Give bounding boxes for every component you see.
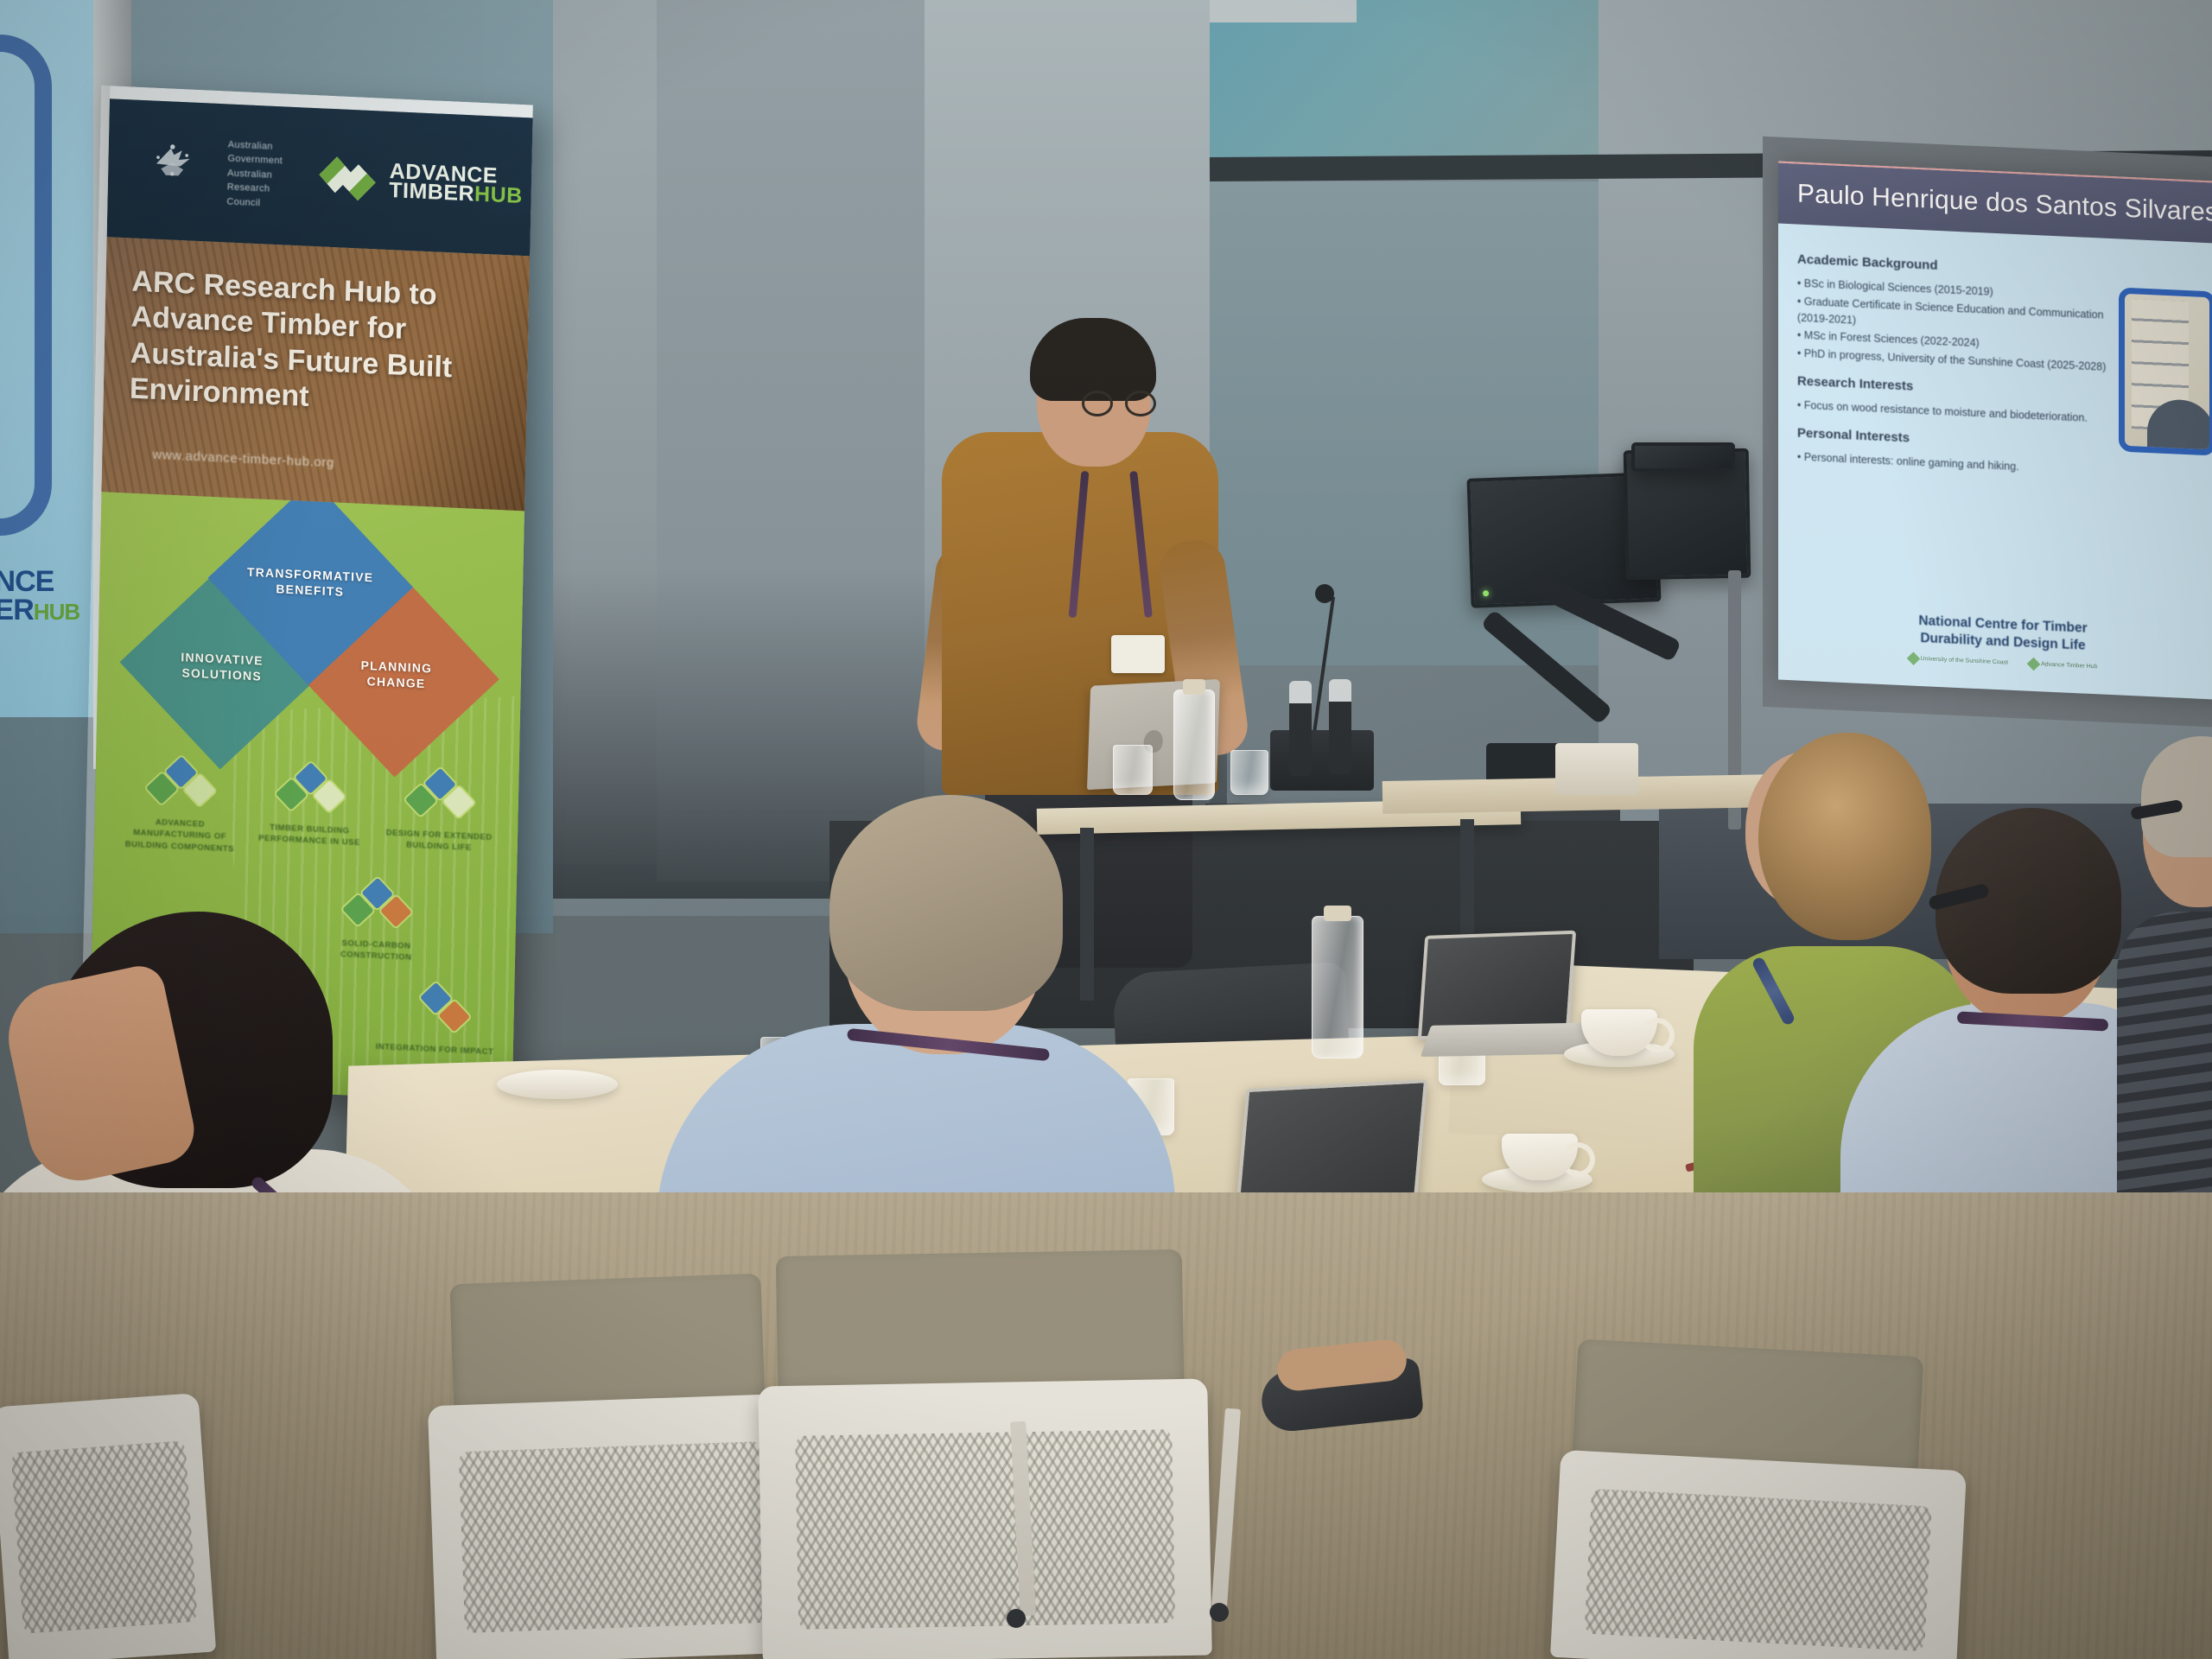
presenter-name-badge bbox=[1111, 635, 1165, 673]
screen-outline-shape bbox=[0, 35, 52, 536]
glass-water-bottle[interactable] bbox=[1173, 690, 1215, 800]
timber-hub-chevron-icon bbox=[313, 143, 382, 214]
program-label: INTEGRATION FOR IMPACT bbox=[370, 1041, 499, 1058]
bottle-cap[interactable] bbox=[1183, 679, 1205, 695]
conference-room-photo: ANCE BERHUB Australian Government Au bbox=[0, 0, 2212, 1659]
slide-bullet: • Personal interests: online gaming and … bbox=[1797, 448, 2115, 479]
chair-caster bbox=[1007, 1609, 1026, 1628]
water-bottle-table[interactable] bbox=[1312, 916, 1363, 1058]
university-logo-icon: University of the Sunshine Coast bbox=[1909, 653, 2009, 667]
program-label: SOLID-CARBON CONSTRUCTION bbox=[311, 937, 441, 965]
program-label: ADVANCED MANUFACTURING OF BUILDING COMPO… bbox=[115, 815, 245, 855]
ceiling-strip bbox=[1210, 0, 1357, 22]
side-plate bbox=[497, 1070, 618, 1099]
program-diamond-icon bbox=[276, 764, 345, 821]
microphone-charging-dock bbox=[1270, 730, 1374, 791]
monitor-power-led-icon bbox=[1483, 590, 1489, 596]
water-bottle-cap[interactable] bbox=[1324, 906, 1351, 921]
microphone-capsule-icon bbox=[1315, 584, 1334, 603]
chair-right[interactable] bbox=[1550, 1450, 1967, 1659]
slide-body: Academic Background • BSc in Biological … bbox=[1797, 240, 2115, 481]
presenter-table-leg bbox=[1080, 828, 1094, 1001]
program-diamond-icon bbox=[343, 879, 411, 936]
advance-timber-hub-wordmark: ADVANCE TIMBERHUB bbox=[389, 161, 523, 206]
banner-headline: ARC Research Hub to Advance Timber for A… bbox=[129, 264, 510, 425]
slide-bullet: • Focus on wood resistance to moisture a… bbox=[1797, 397, 2115, 427]
presenter-water-glass-2[interactable] bbox=[1230, 750, 1268, 795]
presenter-water-glass[interactable] bbox=[1113, 745, 1153, 795]
hub-logo-icon: Advance Timber Hub bbox=[2029, 659, 2097, 672]
chair-caster bbox=[1210, 1603, 1229, 1622]
program-label: TIMBER BUILDING PERFORMANCE IN USE bbox=[245, 821, 374, 849]
program-label: DESIGN FOR EXTENDED BUILDING LIFE bbox=[374, 827, 504, 855]
monitor-rear-panel bbox=[1631, 442, 1735, 472]
program-diamond-icon bbox=[405, 769, 474, 826]
slide-content: Paulo Henrique dos Santos Silvares Acade… bbox=[1778, 162, 2212, 701]
main-projection-screen: Paulo Henrique dos Santos Silvares Acade… bbox=[1763, 137, 2212, 728]
attendee-hair bbox=[829, 795, 1063, 1011]
program-diamond-icon bbox=[401, 983, 469, 1040]
attendee-hair bbox=[1758, 733, 1931, 940]
advance-timber-hub-logo: ADVANCE TIMBERHUB bbox=[313, 143, 524, 220]
slide-portrait-photo bbox=[2119, 287, 2212, 455]
wireless-microphone-1[interactable] bbox=[1289, 681, 1312, 776]
chair-far-left[interactable] bbox=[0, 1393, 216, 1659]
wireless-microphone-2[interactable] bbox=[1329, 679, 1351, 774]
slide-title: Paulo Henrique dos Santos Silvares bbox=[1797, 180, 2212, 228]
chair-centre[interactable] bbox=[758, 1378, 1212, 1659]
logo-divider bbox=[297, 137, 299, 215]
government-wordmark: Australian Government Australian Researc… bbox=[226, 137, 283, 211]
presenter-glasses-icon bbox=[1082, 391, 1156, 416]
australian-government-emblem-icon bbox=[131, 129, 213, 212]
chair-left[interactable] bbox=[428, 1394, 799, 1659]
banner-logo-bar: Australian Government Australian Researc… bbox=[107, 99, 533, 256]
banner-diamond-cluster: INNOVATIVE SOLUTIONS PLANNING CHANGE TRA… bbox=[96, 492, 524, 770]
banner-wood-panel: ARC Research Hub to Advance Timber for A… bbox=[101, 237, 530, 515]
tissue-box bbox=[1555, 743, 1638, 795]
program-diamond-icon bbox=[147, 758, 215, 815]
slide-footer: National Centre for Timber Durability an… bbox=[1778, 607, 2212, 677]
wall-panel-teal bbox=[1210, 0, 1599, 168]
banner-url: www.advance-timber-hub.org bbox=[152, 448, 334, 471]
